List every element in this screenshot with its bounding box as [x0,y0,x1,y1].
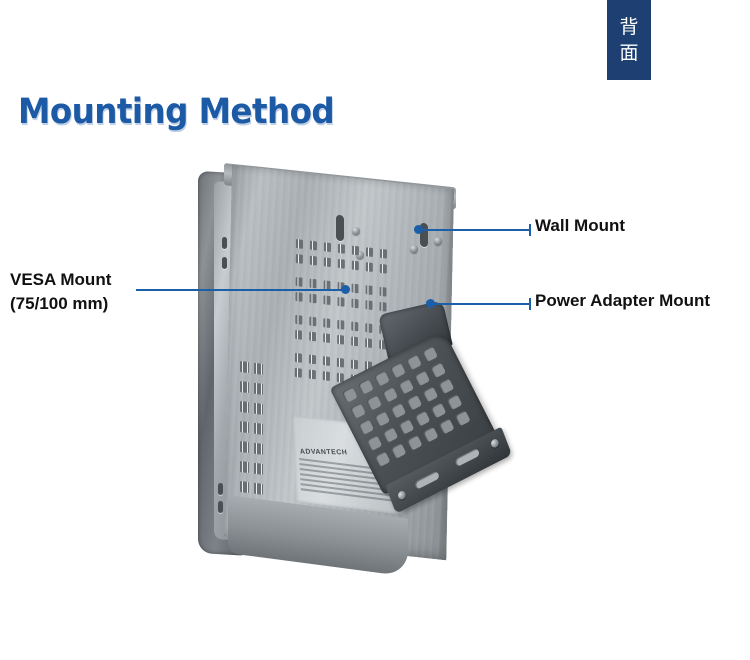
bezel-port-1 [222,237,227,249]
leader-line-vesa-mount [136,289,346,291]
vent-row [240,441,274,456]
bracket-screw-2 [490,438,500,449]
callout-vesa-line2: (75/100 mm) [10,292,111,316]
back-side-badge: 背 面 [607,0,651,80]
vent-row [240,461,274,476]
bezel-port-4 [218,501,223,513]
bracket-screw-1 [397,490,407,501]
vent-row [240,381,274,396]
screw-hole-1 [352,227,360,235]
leader-line-wall-mount [420,229,530,231]
leader-dot-power-adapter-mount [426,299,435,308]
screw-hole-4 [434,237,442,245]
vent-row [240,421,274,436]
leader-cap-power-adapter-mount [529,298,531,310]
page-title: Mounting Method [18,92,334,132]
callout-label-wall-mount: Wall Mount [535,214,625,238]
callout-label-vesa-mount: VESA Mount (75/100 mm) [10,268,111,316]
leader-cap-wall-mount [529,224,531,236]
leader-line-power-adapter-mount [432,303,530,305]
bezel-port-2 [222,257,227,269]
sticker-brand-text: ADVANTECH [299,448,347,456]
vent-row [240,481,274,496]
leader-dot-wall-mount [414,225,423,234]
badge-char-1: 背 [619,18,638,37]
vent-row [240,401,274,416]
badge-char-2: 面 [619,44,638,63]
bracket-slot-1 [414,471,440,490]
callout-power-line1: Power Adapter Mount [535,289,710,313]
product-photo: ADVANTECH [188,165,508,565]
callout-vesa-line1: VESA Mount [10,268,111,292]
bracket-slot-2 [454,448,480,467]
callout-label-power-adapter-mount: Power Adapter Mount [535,289,710,313]
callout-wall-line1: Wall Mount [535,214,625,238]
leader-dot-vesa-mount [341,285,350,294]
bezel-port-3 [218,483,223,495]
keyhole-slot-left [336,215,344,242]
